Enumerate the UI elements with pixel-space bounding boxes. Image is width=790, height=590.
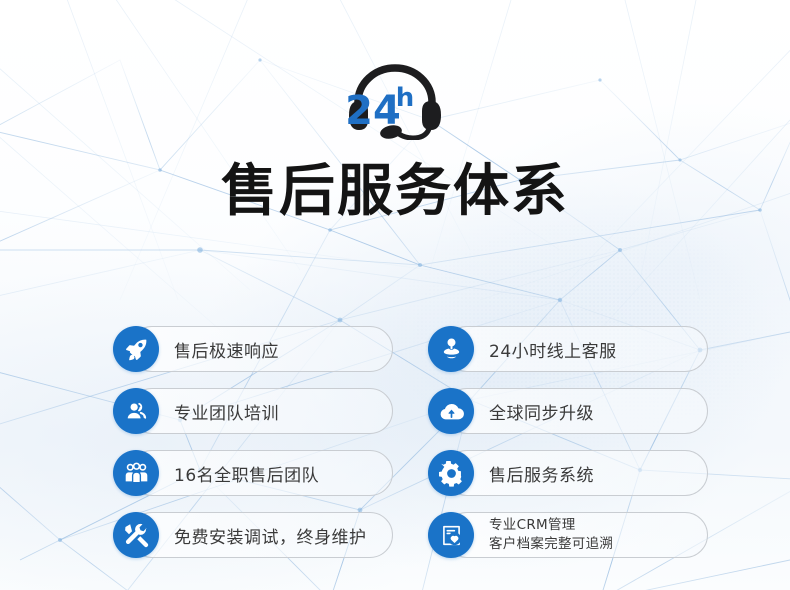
two-people-icon: [113, 388, 159, 434]
feature-label: 16名全职售后团队: [174, 461, 319, 486]
feature-item-free-install[interactable]: 免费安装调试，终身维护: [113, 508, 393, 562]
feature-label: 全球同步升级: [489, 399, 594, 424]
feature-item-service-system[interactable]: 售后服务系统: [428, 446, 708, 500]
feature-label: 专业CRM管理 客户档案完整可追溯: [489, 516, 613, 554]
feature-label: 24小时线上客服: [489, 337, 617, 362]
feature-label: 免费安装调试，终身维护: [174, 523, 367, 548]
header: 24 h 售后服务体系: [0, 0, 790, 220]
logo-superscript-h: h: [396, 83, 415, 113]
rocket-icon: [113, 326, 159, 372]
three-people-icon: [113, 450, 159, 496]
feature-item-online-service[interactable]: 24小时线上客服: [428, 322, 708, 376]
feature-label: 售后服务系统: [489, 461, 594, 486]
feature-label: 售后极速响应: [174, 337, 279, 362]
feature-item-fast-response[interactable]: 售后极速响应: [113, 322, 393, 376]
page-title: 售后服务体系: [221, 164, 569, 220]
headset-person-icon: [428, 326, 474, 372]
feature-item-team-size[interactable]: 16名全职售后团队: [113, 446, 393, 500]
feature-label-line1: 专业CRM管理: [489, 517, 576, 533]
feature-label: 专业团队培训: [174, 399, 279, 424]
feature-label-line2: 客户档案完整可追溯: [489, 535, 613, 554]
feature-item-team-training[interactable]: 专业团队培训: [113, 384, 393, 438]
document-heart-icon: [428, 512, 474, 558]
wrench-tools-icon: [113, 512, 159, 558]
page-root: 24 h 售后服务体系 售后极速响应: [0, 0, 790, 590]
headset-24h-icon: 24 h: [335, 58, 455, 140]
cloud-upload-icon: [428, 388, 474, 434]
feature-item-global-upgrade[interactable]: 全球同步升级: [428, 384, 708, 438]
feature-list: 售后极速响应 24小时线上客服: [113, 322, 713, 562]
gear-icon: [428, 450, 474, 496]
feature-item-crm-management[interactable]: 专业CRM管理 客户档案完整可追溯: [428, 508, 708, 562]
logo-number-24: 24: [345, 88, 401, 134]
